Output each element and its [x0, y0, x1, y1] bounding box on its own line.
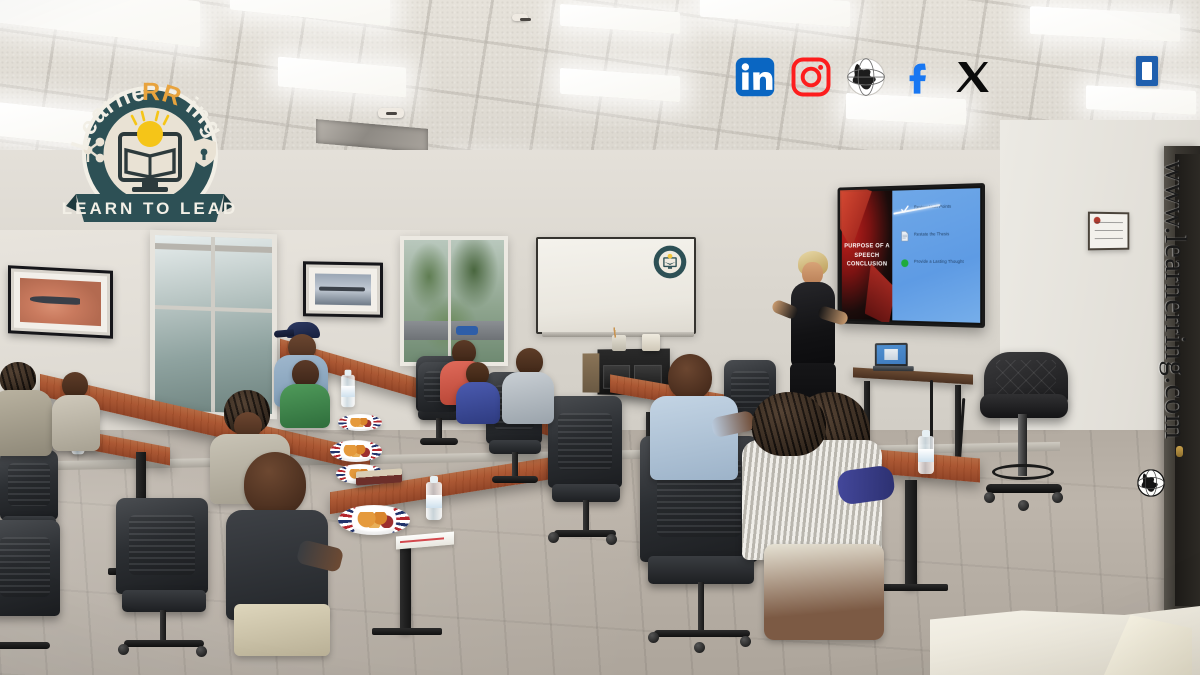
x-twitter-icon[interactable]	[953, 57, 993, 102]
caster-wheel	[1018, 500, 1029, 511]
caster-wheel	[694, 642, 705, 653]
door-handle-icon[interactable]	[1176, 446, 1183, 457]
stool-base	[986, 484, 1062, 493]
framed-aircraft-photo	[303, 261, 383, 317]
chair-base	[654, 630, 750, 637]
chair-backrest	[548, 396, 622, 488]
presentation-screen: PURPOSE OF A SPEECH CONCLUSION Review Ma…	[838, 183, 985, 328]
student-torso	[52, 395, 100, 451]
water-bottle[interactable]	[918, 436, 934, 474]
paper-plate	[338, 505, 410, 535]
slide-bullet-text: Provide a Lasting Thought	[914, 259, 964, 264]
bottle-label	[426, 495, 442, 508]
website-url-watermark: www.learnerring.com	[1158, 160, 1194, 440]
whiteboard-logo	[653, 245, 687, 279]
caster-wheel	[548, 532, 559, 543]
student-torso	[650, 396, 738, 480]
laptop-screen	[877, 345, 906, 364]
drafting-stool[interactable]	[978, 352, 1070, 522]
tissue-box	[642, 334, 660, 351]
student-head	[292, 360, 319, 387]
student	[650, 354, 746, 484]
student-hair	[752, 392, 826, 456]
chair-backrest	[0, 450, 58, 520]
table-leg	[400, 540, 411, 632]
credenza-side-panel	[583, 353, 600, 392]
student-legs	[764, 544, 884, 640]
student-head	[244, 452, 306, 516]
caster-wheel	[984, 492, 995, 503]
framed-certificate	[1088, 212, 1129, 251]
student-torso	[0, 390, 52, 456]
chair-backrest	[116, 498, 208, 594]
stool-footring	[992, 464, 1054, 480]
slide-bullet: Provide a Lasting Thought	[900, 256, 975, 267]
student-arm	[836, 464, 896, 505]
food-items	[341, 445, 371, 456]
chair-cylinder	[512, 452, 518, 478]
chair-base	[124, 640, 204, 647]
brand-logo: Learne RR ing LEARN TO LEAD LearneRRing …	[62, 72, 238, 232]
student	[220, 452, 340, 652]
student	[52, 372, 104, 452]
smoke-detector-icon	[512, 14, 528, 21]
slide: PURPOSE OF A SPEECH CONCLUSION Review Ma…	[842, 188, 980, 323]
slide-bullet-text: Restate the Thesis	[914, 231, 949, 236]
student	[456, 362, 502, 420]
framed-helicopter-photo	[8, 265, 113, 339]
laptop[interactable]	[873, 343, 914, 371]
exit-sign-icon	[1136, 56, 1158, 86]
student-torso	[456, 382, 500, 424]
chair-backrest	[0, 520, 60, 616]
paper-plate	[338, 414, 382, 431]
chair-seat[interactable]	[122, 590, 206, 612]
whiteboard	[536, 237, 696, 334]
window-view-car	[456, 326, 478, 335]
slide-bullet: Restate the Thesis	[900, 228, 975, 239]
laptop-keyboard[interactable]	[873, 366, 914, 371]
caster-wheel	[606, 534, 617, 545]
globe-icon[interactable]	[845, 56, 887, 103]
student	[752, 392, 842, 462]
facebook-icon[interactable]	[900, 57, 940, 102]
document-icon	[900, 229, 909, 240]
caster-wheel	[196, 646, 207, 657]
window-view-road	[404, 321, 504, 341]
linkedin-icon[interactable]	[733, 55, 777, 104]
chair-base	[492, 476, 538, 483]
bottle-label	[341, 386, 355, 397]
green-dot-icon	[900, 256, 909, 267]
slide-title-line: PURPOSE OF A	[844, 241, 890, 250]
instagram-icon[interactable]	[790, 56, 832, 103]
chair-seat[interactable]	[648, 556, 754, 584]
water-bottle[interactable]	[426, 482, 442, 520]
slide-bullets-panel: Review Main Points Restate the Thesis Pr…	[892, 188, 980, 323]
student	[502, 348, 558, 420]
globe-icon	[1136, 468, 1166, 498]
smoke-detector-icon	[378, 108, 404, 118]
student	[0, 362, 58, 458]
chair-cylinder	[160, 610, 166, 644]
chair-cylinder	[583, 500, 589, 534]
caster-wheel	[1052, 492, 1063, 503]
student-head	[516, 348, 543, 375]
bottle-label	[918, 449, 934, 462]
table-foot	[372, 628, 442, 635]
food-items	[348, 418, 374, 427]
chair-base	[420, 438, 458, 445]
scene-root: PURPOSE OF A SPEECH CONCLUSION Review Ma…	[0, 0, 1200, 675]
cloth-fold	[1104, 615, 1192, 675]
chair-cylinder	[698, 582, 704, 634]
food-items	[354, 512, 396, 528]
caster-wheel	[648, 632, 659, 643]
helicopter-photo	[20, 278, 101, 326]
water-bottle[interactable]	[341, 375, 355, 407]
student-torso	[502, 372, 554, 424]
chair-base	[0, 642, 50, 649]
caster-wheel	[118, 644, 129, 655]
student-head	[668, 354, 712, 400]
aircraft-photo	[315, 274, 371, 306]
presenter-torso	[791, 282, 835, 368]
student-legs	[234, 604, 330, 656]
pen-cup	[612, 335, 626, 351]
certificate-text-lines	[1095, 219, 1123, 243]
chair-cylinder	[436, 418, 442, 440]
window-mullion	[211, 237, 215, 412]
social-icons-bar	[733, 55, 993, 104]
svg-text:LEARN TO LEAD: LEARN TO LEAD	[62, 199, 238, 218]
